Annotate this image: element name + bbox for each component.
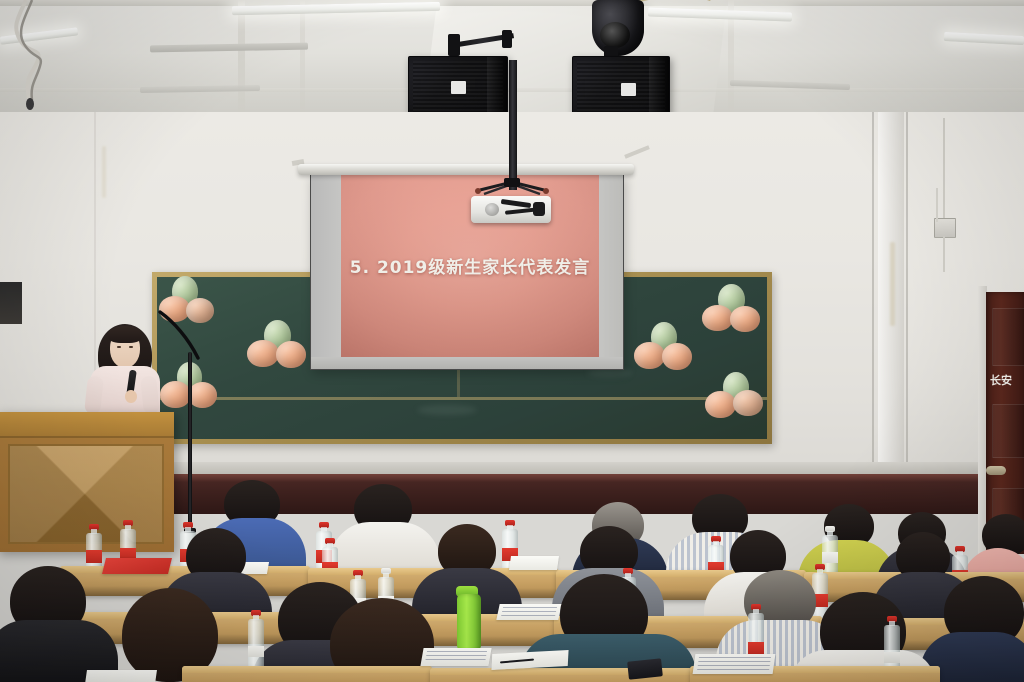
dome-camera-icon [592,0,644,56]
wall-stain [890,242,895,326]
lecture-hall-scene: 长安 5. 2019级新生家长代表发言 [0,0,1024,682]
speaker-side [487,57,507,116]
balloon-peach [160,381,191,408]
door-sign-text: 长安 [990,372,1024,388]
microphone-boom-arm [158,310,208,367]
slide-headline: 5. 2019级新生家长代表发言 [341,253,599,278]
student-desk [182,666,432,682]
chalkboard-lower-rail [157,397,767,400]
screen-bottom-margin [311,357,623,369]
ceiling-speaker-right [572,56,670,120]
balloon-peach [276,341,306,368]
wall-conduit-lower [943,236,945,272]
balloon-peach-muted [733,390,763,416]
bottle-label [86,550,102,563]
screen-left-margin [311,175,342,369]
green-water-bottle [457,594,481,652]
paper-sheet [496,604,561,620]
bottle-label-white [248,646,264,657]
presenter-eye-right [129,346,133,348]
screen-right-margin [599,175,623,369]
projector-cable-a [501,199,531,208]
speaker-left-bracket-end [502,30,512,48]
ceiling-beam-vertical-a [238,0,245,118]
chalkboard-smudge [417,405,477,415]
speaker-left-bracket [448,34,460,56]
camera-lens-icon [600,22,630,48]
speaker-brand-logo [621,83,636,96]
hanging-cable-bundle [8,0,68,110]
projection-screen-roller[interactable] [298,164,634,175]
speaker-side [649,57,669,119]
projector-pole [509,60,517,190]
ceiling-beam-top [0,0,1024,6]
wall-opening-left [0,282,22,324]
paper-sheet [509,556,559,570]
ceiling-projector [471,196,551,223]
projection-screen: 5. 2019级新生家长代表发言 [310,174,624,370]
red-folder [102,558,172,574]
desk-edge [182,666,432,673]
ceiling-beam-vertical-b [300,0,305,118]
balloon-peach [662,343,692,370]
door-panel-mid [992,404,1024,458]
projector-port [533,202,545,216]
speaker-brand-logo [451,81,466,94]
balloon-peach [188,382,217,408]
wall-stain-left [102,146,106,198]
bottle-label-white [822,552,838,563]
balloon-peach [247,340,279,367]
audience-area [0,470,1024,682]
bottle-label-white [884,652,900,663]
wall-seam-b [906,112,908,472]
ceiling-speaker-left [408,56,508,117]
paper-lines [501,607,557,617]
paper-lines [697,657,771,671]
balloon-peach [702,305,733,331]
podium-top-surface [0,412,174,438]
door-panel-top [992,308,1024,366]
wall-seam-a [872,112,874,472]
presenter-eye-left [117,346,121,348]
wall-conduit-side [936,188,938,222]
chalkboard-smudge [587,369,633,377]
projector-mount [470,178,554,194]
balloon-peach [730,306,760,332]
projected-slide: 5. 2019级新生家长代表发言 [341,175,599,357]
projector-lens-icon [485,203,499,216]
balloon-peach [705,391,736,418]
paper-sheet [420,648,491,666]
mobile-phone[interactable] [627,658,663,679]
wall-conduit-upper [943,118,945,218]
presenter-hand [125,390,137,403]
desk-edge [60,566,310,573]
paper-lines [425,651,487,663]
paper-sheet [85,670,157,682]
balloon-peach [634,342,665,369]
paper-sheet [693,654,776,674]
presenter-fringe [108,326,142,343]
